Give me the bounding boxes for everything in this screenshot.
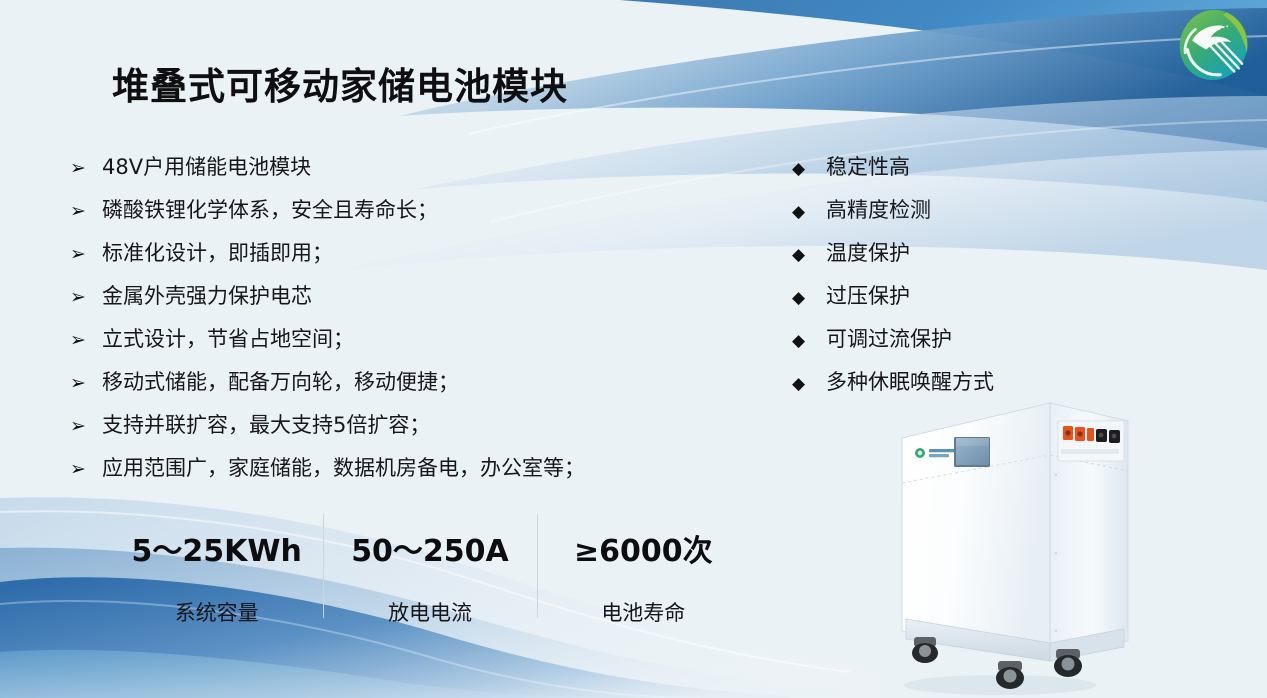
arrow-bullet-icon: ➢ [70, 460, 102, 479]
list-item-label: 支持并联扩容，最大支持5倍扩容； [102, 409, 430, 439]
list-item-label: 稳定性高 [826, 151, 910, 181]
list-item: ➢ 标准化设计，即插即用； [70, 237, 730, 280]
spec-value: 5～25KWh [110, 526, 323, 570]
diamond-bullet-icon: ◆ [792, 376, 826, 393]
list-item-label: 温度保护 [826, 237, 910, 267]
spec-label: 电池寿命 [537, 597, 750, 627]
page-title: 堆叠式可移动家储电池模块 [112, 56, 568, 110]
arrow-bullet-icon: ➢ [70, 374, 102, 393]
arrow-bullet-icon: ➢ [70, 159, 102, 178]
diamond-bullet-icon: ◆ [792, 161, 826, 178]
diamond-bullet-icon: ◆ [792, 290, 826, 307]
list-item-label: 移动式储能，配备万向轮，移动便捷； [102, 366, 459, 396]
list-item: ➢ 应用范围广，家庭储能，数据机房备电，办公室等； [70, 452, 730, 495]
list-item-label: 过压保护 [826, 280, 910, 310]
spec-cell-capacity: 5～25KWh 系统容量 [110, 512, 323, 620]
spec-cell-cycle-life: ≥6000次 电池寿命 [537, 512, 750, 620]
list-item-label: 应用范围广，家庭储能，数据机房备电，办公室等； [102, 452, 585, 482]
list-item-label: 磷酸铁锂化学体系，安全且寿命长； [102, 194, 438, 224]
diamond-bullet-icon: ◆ [792, 204, 826, 221]
list-item-label: 可调过流保护 [826, 323, 952, 353]
slide-canvas: 堆叠式可移动家储电池模块 ➢ 48V户用储能电池模块 ➢ 磷酸铁锂化学体系，安全… [0, 0, 1267, 698]
list-item: ◆ 高精度检测 [792, 194, 1122, 237]
product-photo-battery-cabinet [880, 393, 1130, 698]
spec-cell-current: 50～250A 放电电流 [323, 512, 536, 620]
list-item: ◆ 温度保护 [792, 237, 1122, 280]
diamond-bullet-icon: ◆ [792, 247, 826, 264]
spec-value: ≥6000次 [537, 526, 750, 570]
arrow-bullet-icon: ➢ [70, 288, 102, 307]
list-item: ◆ 稳定性高 [792, 151, 1122, 194]
arrow-bullet-icon: ➢ [70, 417, 102, 436]
company-leaf-logo-icon [1175, 6, 1253, 84]
spec-summary-strip: 5～25KWh 系统容量 50～250A 放电电流 ≥6000次 电池寿命 [110, 512, 750, 620]
list-item: ➢ 移动式储能，配备万向轮，移动便捷； [70, 366, 730, 409]
list-item-label: 48V户用储能电池模块 [102, 151, 311, 181]
spec-value: 50～250A [323, 526, 536, 570]
list-item: ➢ 支持并联扩容，最大支持5倍扩容； [70, 409, 730, 452]
list-item-label: 立式设计，节省占地空间； [102, 323, 354, 353]
arrow-bullet-icon: ➢ [70, 202, 102, 221]
spec-label: 放电电流 [323, 597, 536, 627]
list-item: ➢ 金属外壳强力保护电芯 [70, 280, 730, 323]
feature-list-left: ➢ 48V户用储能电池模块 ➢ 磷酸铁锂化学体系，安全且寿命长； ➢ 标准化设计… [70, 151, 730, 495]
list-item: ➢ 立式设计，节省占地空间； [70, 323, 730, 366]
product-connector-panel [1058, 421, 1124, 461]
list-item-label: 标准化设计，即插即用； [102, 237, 333, 267]
arrow-bullet-icon: ➢ [70, 331, 102, 350]
list-item-label: 金属外壳强力保护电芯 [102, 280, 312, 310]
feature-list-right: ◆ 稳定性高 ◆ 高精度检测 ◆ 温度保护 ◆ 过压保护 ◆ 可调过流保护 ◆ … [792, 151, 1122, 409]
list-item: ➢ 磷酸铁锂化学体系，安全且寿命长； [70, 194, 730, 237]
product-lcd-screen [954, 437, 990, 467]
list-item: ◆ 过压保护 [792, 280, 1122, 323]
diamond-bullet-icon: ◆ [792, 333, 826, 350]
list-item: ◆ 可调过流保护 [792, 323, 1122, 366]
spec-label: 系统容量 [110, 597, 323, 627]
list-item-label: 高精度检测 [826, 194, 931, 224]
list-item: ➢ 48V户用储能电池模块 [70, 151, 730, 194]
arrow-bullet-icon: ➢ [70, 245, 102, 264]
list-item-label: 多种休眠唤醒方式 [826, 366, 994, 396]
